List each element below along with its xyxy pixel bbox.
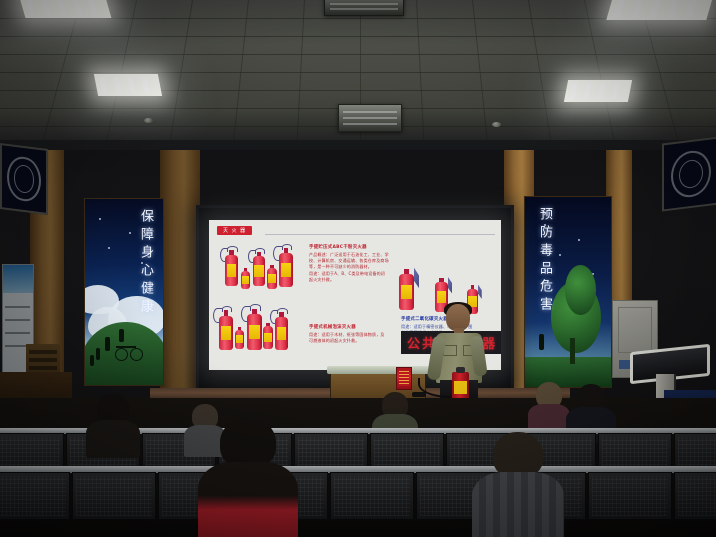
info-board-header bbox=[3, 265, 33, 293]
poster-left-figure-b bbox=[96, 348, 100, 360]
ceiling-av-vent-lower bbox=[338, 104, 402, 132]
seat[interactable] bbox=[330, 472, 414, 520]
extinguisher-dry-2 bbox=[253, 248, 265, 286]
poster-left-figure-c bbox=[90, 355, 94, 366]
wall-emblem-right bbox=[662, 136, 716, 211]
ceiling-light-mid-left bbox=[94, 74, 162, 96]
extinguisher-foam-3 bbox=[275, 308, 288, 350]
poster-left-title: 保障身心健康 bbox=[136, 209, 155, 317]
poster-left: 保障身心健康 bbox=[84, 198, 164, 386]
podium-red-booklet bbox=[396, 367, 412, 390]
extinguisher-foam-1 bbox=[219, 306, 233, 350]
presenter-head bbox=[446, 304, 470, 331]
seat[interactable] bbox=[0, 472, 70, 520]
ceiling-light-mid-right bbox=[564, 80, 632, 102]
poster-right-figure bbox=[539, 334, 544, 350]
slide-divider bbox=[265, 234, 495, 235]
audience-member-4 bbox=[528, 382, 570, 434]
cabinet-door[interactable] bbox=[618, 307, 652, 353]
wall-emblem-left bbox=[0, 143, 48, 215]
seal-icon bbox=[671, 148, 711, 199]
extinguisher-foam-5 bbox=[235, 324, 244, 349]
poster-right-title: 预防毒品危害 bbox=[535, 207, 554, 315]
extinguisher-dry-4 bbox=[267, 262, 277, 289]
extinguisher-dry-3 bbox=[279, 244, 293, 287]
podium-top bbox=[327, 366, 429, 374]
seat[interactable] bbox=[674, 472, 716, 520]
poster-right: 预防毒品危害 bbox=[524, 196, 612, 388]
seal-icon bbox=[7, 155, 40, 204]
audience-member-6 bbox=[198, 418, 298, 537]
audience-member-1 bbox=[86, 394, 140, 452]
smoke-detector-right bbox=[492, 122, 501, 127]
slide-tag-label: 灭 火 器 bbox=[217, 226, 252, 235]
wall-pillar-left bbox=[160, 150, 200, 400]
extinguisher-dry-5 bbox=[241, 266, 250, 289]
extinguisher-foam-4 bbox=[263, 320, 273, 349]
smoke-detector-left bbox=[144, 118, 153, 123]
extinguisher-dry-1 bbox=[225, 246, 238, 286]
ceiling-av-vent-upper bbox=[324, 0, 404, 16]
seat[interactable] bbox=[588, 472, 672, 520]
slide-body-foam: 用途：适用于木材、纸张等固体物质，及可燃液体的初起火灾扑救。 bbox=[309, 332, 385, 344]
ceiling-light-top-right bbox=[606, 0, 713, 20]
poster-left-cyclist bbox=[119, 329, 124, 342]
slide-body-abc: 产品概述：广泛适用于石油化工、工业、学校、计算机房、交通运输、各类仓库及商场等，… bbox=[309, 252, 389, 283]
lecture-room-photo: 保障身心健康 预防毒品危害 灭 火 器 bbox=[0, 0, 716, 537]
audience-row-2 bbox=[0, 466, 716, 514]
audience-member-7 bbox=[472, 432, 564, 537]
slide-heading-foam: 手提式机械泡沫灭火器 bbox=[309, 324, 356, 330]
seat[interactable] bbox=[72, 472, 156, 520]
ceiling bbox=[0, 0, 716, 152]
slide-heading-abc: 手提贮压式ABC干粉灭火器 bbox=[309, 244, 367, 250]
extinguisher-foam-2 bbox=[247, 304, 262, 350]
ceiling-light-top-left bbox=[19, 0, 112, 18]
poster-left-figure-a bbox=[105, 337, 110, 351]
extinguisher-co2-1 bbox=[399, 264, 414, 310]
